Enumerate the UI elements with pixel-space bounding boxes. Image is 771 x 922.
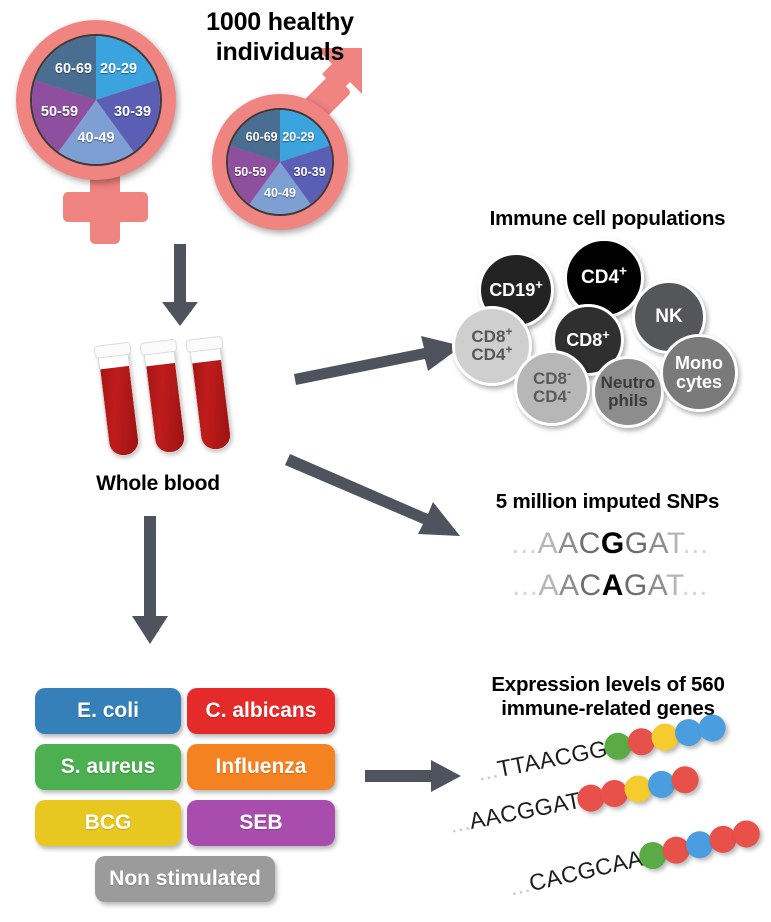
- pie-label-60-69: 60-69: [55, 61, 92, 77]
- pie-label-50-59: 50-59: [234, 165, 266, 179]
- stimulus-e-coli[interactable]: E. coli: [35, 688, 181, 734]
- snp-sequence-group: ...AACGGAT... ...AACAGAT...: [470, 527, 750, 622]
- female-age-pie-chart: 20-2930-3940-4950-5960-69: [30, 34, 162, 166]
- arrow-cohort-to-blood: [160, 244, 200, 326]
- strand-sequence-text: ...CACGCAA: [507, 845, 646, 902]
- whole-blood-tubes: [108, 332, 258, 467]
- stimulus-non-stimulated[interactable]: Non stimulated: [95, 856, 275, 902]
- arrow-blood-to-stimuli: [130, 516, 170, 644]
- expression-strand: ...CACGCAA: [507, 818, 762, 902]
- pie-label-40-49: 40-49: [77, 130, 114, 146]
- snp-sequence-row: ...AACAGAT...: [470, 569, 750, 603]
- stimulus-c-albicans[interactable]: C. albicans: [187, 688, 335, 734]
- arrow-blood-to-immune: [292, 330, 464, 380]
- blood-tube-icon: [96, 337, 141, 458]
- pie-label-60-69: 60-69: [246, 130, 278, 144]
- strand-sequence-text: ...AACGGAT: [447, 787, 583, 839]
- stimulus-s-aureus[interactable]: S. aureus: [35, 744, 181, 790]
- section-title-immune-cells: Immune cell populations: [455, 207, 760, 231]
- gene-bead: [669, 764, 701, 796]
- blood-tube-icon: [188, 331, 233, 452]
- stimuli-panel: E. coliC. albicansS. aureusInfluenzaBCGS…: [35, 688, 335, 898]
- arrow-stimuli-to-expression: [365, 758, 463, 794]
- pie-label-20-29: 20-29: [282, 130, 314, 144]
- snp-sequence-row: ...AACGGAT...: [470, 527, 750, 561]
- male-age-pie-chart: 20-2930-3940-4950-5960-69: [226, 108, 334, 216]
- female-cohort-symbol: 20-2930-3940-4950-5960-69: [8, 12, 198, 247]
- pie-label-20-29: 20-29: [100, 61, 137, 77]
- pie-label-30-39: 30-39: [294, 165, 326, 179]
- pie-label-40-49: 40-49: [264, 186, 296, 200]
- male-cohort-symbol: 20-2930-3940-4950-5960-69: [200, 42, 415, 242]
- stimulus-seb[interactable]: SEB: [187, 800, 335, 846]
- section-title-snps: 5 million imputed SNPs: [455, 490, 760, 514]
- immune-cell-neutrophils: Neutrophils: [592, 356, 664, 428]
- strand-sequence-text: ...TTAACGG: [475, 735, 609, 787]
- immune-cell-cd8-cd4-: CD8-CD4-: [514, 350, 590, 426]
- expression-strand-group: ...TTAACGG...AACGGAT...CACGCAA: [450, 720, 770, 910]
- immune-cell-monocytes: Monocytes: [660, 334, 738, 412]
- gene-bead: [696, 712, 728, 744]
- page-title-individuals: 1000 healthy individuals: [175, 8, 385, 67]
- stimulus-influenza[interactable]: Influenza: [187, 744, 335, 790]
- pie-label-30-39: 30-39: [114, 104, 151, 120]
- blood-tube-icon: [142, 334, 187, 455]
- stimulus-bcg[interactable]: BCG: [35, 800, 181, 846]
- immune-cell-cluster: CD19+CD4+NKCD8+CD8+CD4+CD8-CD4-Neutrophi…: [452, 238, 762, 433]
- arrow-blood-to-snps: [288, 450, 468, 540]
- female-symbol-cross: [63, 192, 148, 222]
- pie-label-50-59: 50-59: [41, 104, 78, 120]
- label-whole-blood: Whole blood: [58, 472, 258, 497]
